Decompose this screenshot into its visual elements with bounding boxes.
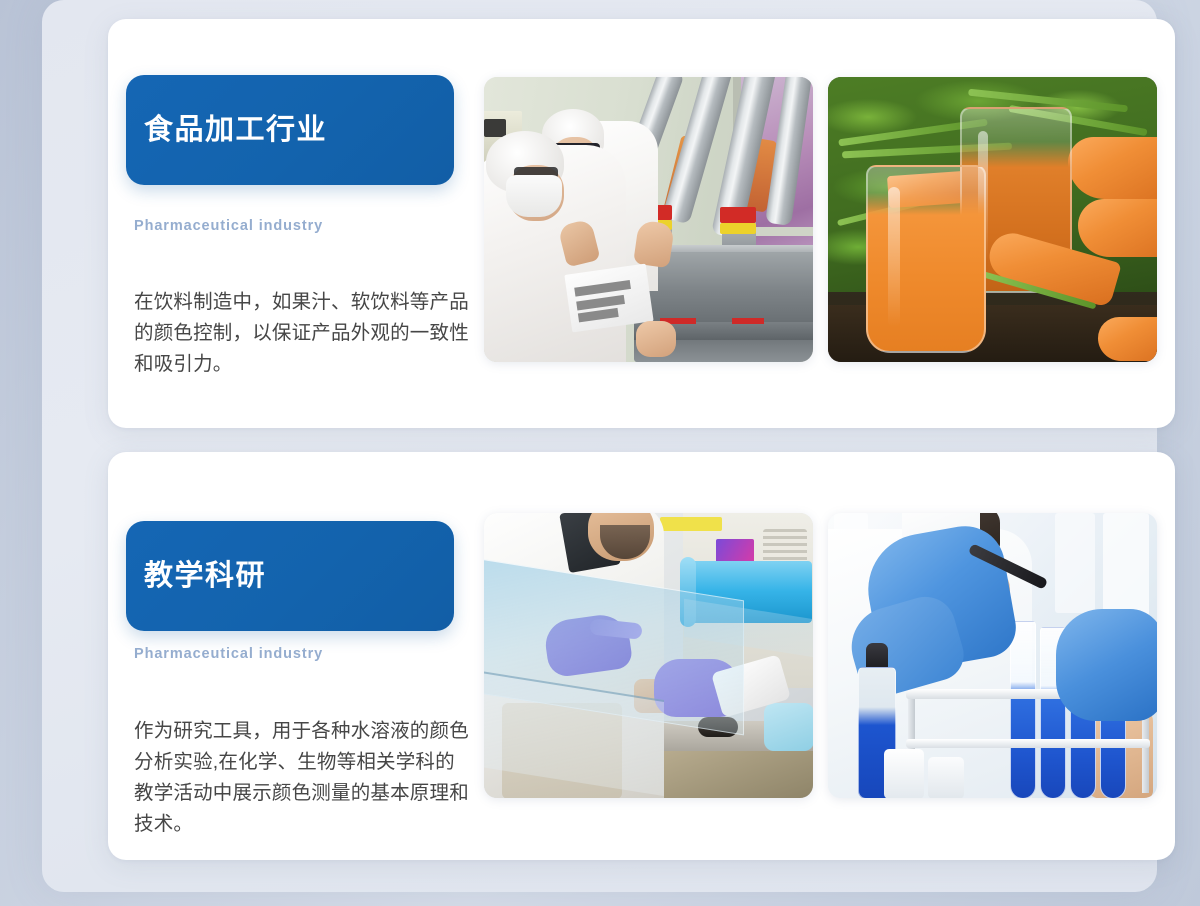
food-processing-plant-photo [484,77,813,362]
carrot-juice-glasses-photo [828,77,1157,362]
industry-card-food-processing[interactable]: 食品加工行业 Pharmaceutical industry 在饮料制造中，如果… [108,19,1175,428]
outer-panel: 食品加工行业 Pharmaceutical industry 在饮料制造中，如果… [42,0,1157,892]
industry-card-education-research[interactable]: 教学科研 Pharmaceutical industry 作为研究工具，用于各种… [108,452,1175,860]
card-body-text: 在饮料制造中，如果汁、软饮料等产品的颜色控制，以保证产品外观的一致性和吸引力。 [134,287,470,380]
card-title: 食品加工行业 [126,116,327,145]
researcher-gloves-lab-photo [484,513,813,798]
card-text-column: 食品加工行业 Pharmaceutical industry 在饮料制造中，如果… [126,19,472,428]
card-title-pill[interactable]: 食品加工行业 [126,75,454,185]
card-subtitle: Pharmaceutical industry [134,646,323,662]
card-body-text: 作为研究工具，用于各种水溶液的颜色分析实验,在化学、生物等相关学科的教学活动中展… [134,716,470,840]
card-title: 教学科研 [126,562,266,591]
blue-test-tubes-photo [828,513,1157,798]
card-title-pill[interactable]: 教学科研 [126,521,454,631]
card-text-column: 教学科研 Pharmaceutical industry 作为研究工具，用于各种… [126,452,472,860]
card-subtitle: Pharmaceutical industry [134,218,323,234]
